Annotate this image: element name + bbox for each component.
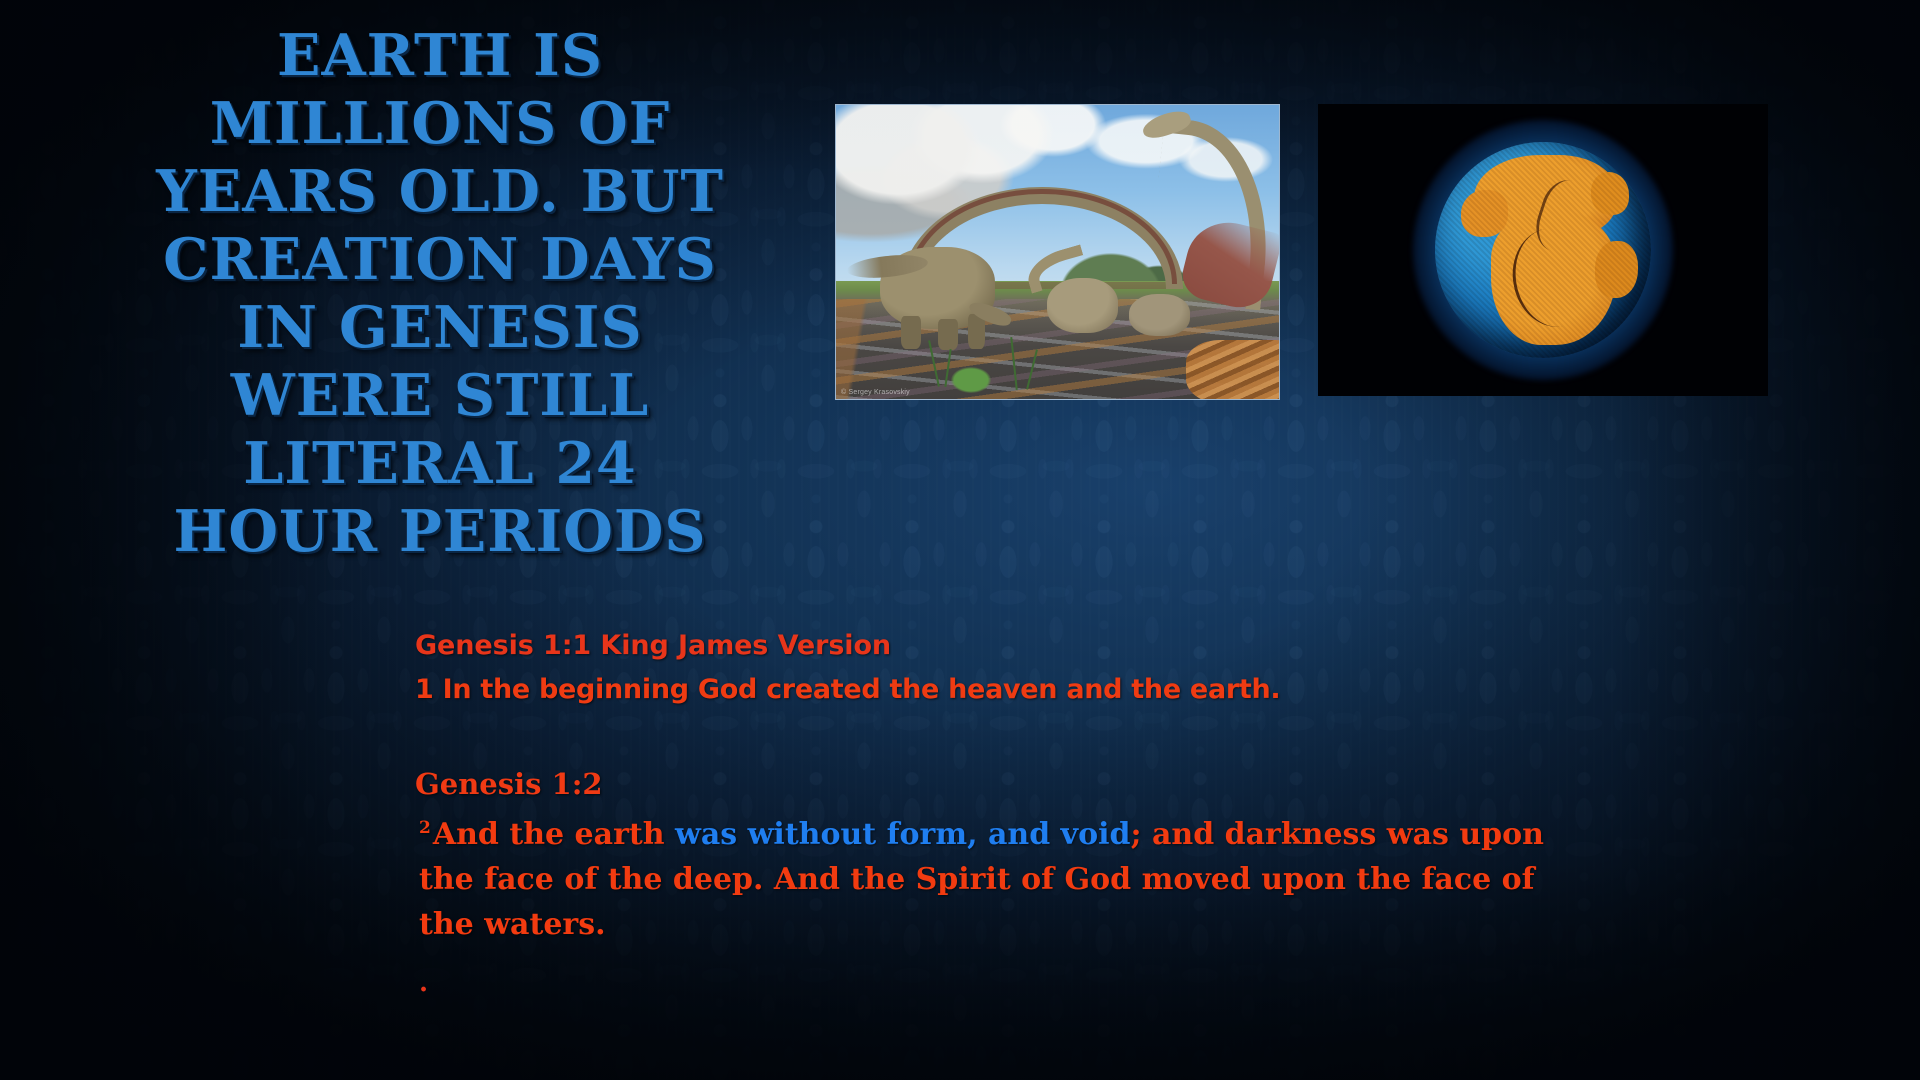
sauropod-body: [1047, 278, 1118, 333]
slide-title: EARTH IS MILLIONS OF YEARS OLD. BUT CREA…: [110, 22, 770, 566]
foreground-bush: [951, 367, 991, 393]
genesis-1-2-verse: 2And the earth was without form, and voi…: [415, 806, 1595, 947]
sauropod-leg: [901, 316, 921, 349]
verse-part-red-1: And the earth: [433, 817, 675, 852]
genesis-1-1-heading: Genesis 1:1 King James Version: [415, 624, 1595, 668]
image-watermark: © Sergey Krasovskiy: [841, 389, 910, 396]
verse-part-blue: was without form, and void: [675, 817, 1130, 852]
scripture-text-block: Genesis 1:1 King James Version 1 In the …: [415, 624, 1595, 1003]
trailing-punctuation: .: [415, 963, 1595, 1003]
genesis-1-1-verse: 1 In the beginning God created the heave…: [415, 668, 1595, 712]
globe-terrain-texture: [1435, 142, 1651, 358]
globe-sphere: [1435, 142, 1651, 358]
verse-number: 2: [419, 818, 433, 838]
dinosaur-illustration-image: © Sergey Krasovskiy: [835, 104, 1280, 400]
presentation-slide: EARTH IS MILLIONS OF YEARS OLD. BUT CREA…: [0, 0, 1920, 1080]
paragraph-spacer: [415, 712, 1595, 764]
sauropod-leg: [938, 319, 958, 350]
pangaea-globe-image: [1318, 104, 1768, 396]
foreground-driftwood: [1186, 340, 1280, 400]
genesis-1-2-heading: Genesis 1:2: [415, 764, 1595, 804]
